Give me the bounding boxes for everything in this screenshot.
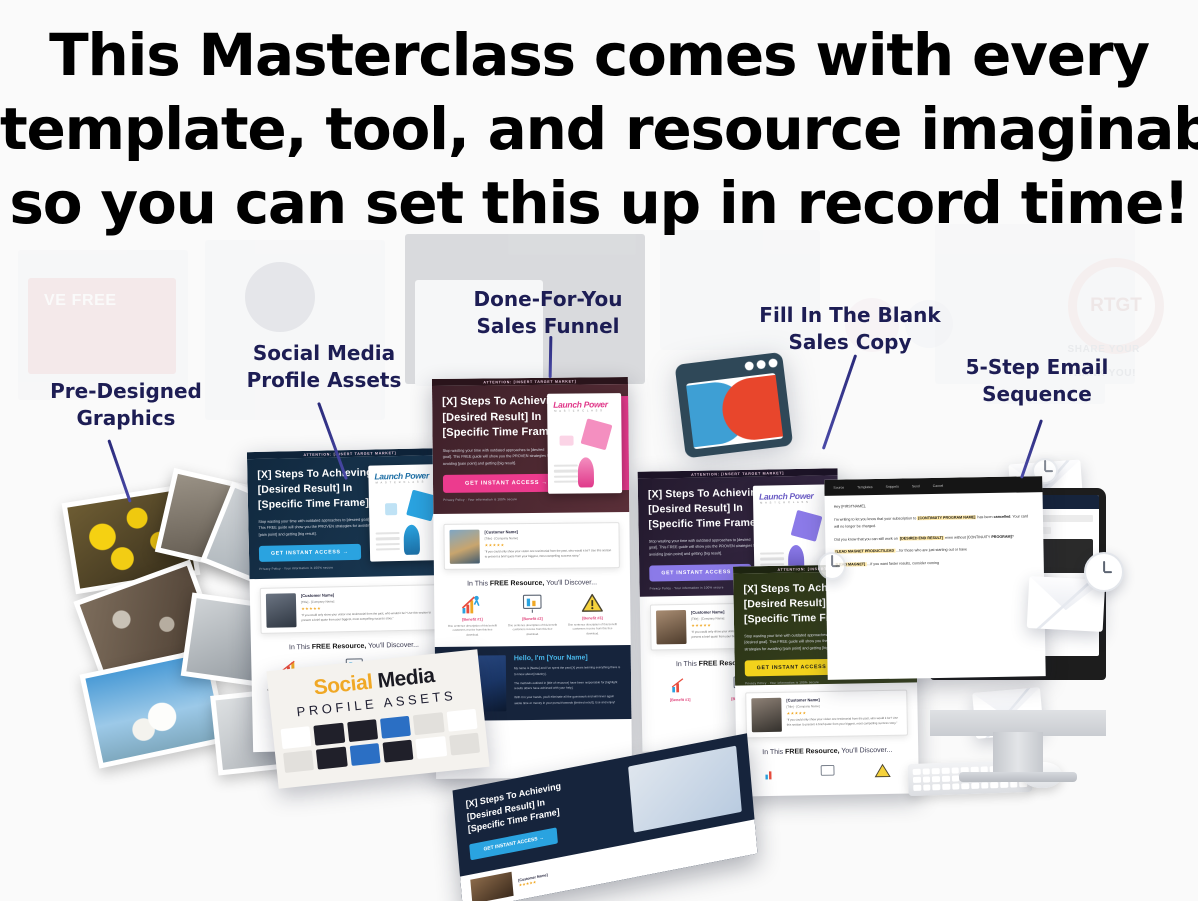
annotation-five-step-email-sequence: 5-Step Email Sequence (952, 354, 1122, 408)
chart-runner-icon (654, 675, 706, 696)
p2-post: even without [CONTINUITY (944, 535, 991, 540)
email-p2: Did you know that you can still work on … (834, 533, 1034, 543)
annotation-line-1: Social Media (253, 341, 395, 365)
benefit-item: [Benefit #1] One sentence description of… (447, 594, 498, 637)
benefit-item: [Benefit #1] (654, 675, 706, 703)
bio-greeting-name: [Your Name] (547, 655, 588, 662)
sm-asset-cell (316, 747, 347, 770)
chart-runner-icon (749, 763, 796, 784)
product-name: Launch Power (547, 393, 621, 410)
funnel-subhead: Stop wasting your time with outdated app… (443, 447, 552, 468)
presentation-icon (804, 762, 851, 783)
discover-pre: In This (762, 749, 785, 756)
discover-post: You'll Discover... (544, 579, 597, 587)
email-greeting: Hey [FIRSTNAME], (834, 500, 1034, 510)
bio-p2: The methods outlined in [title of resour… (514, 680, 622, 692)
sm-asset-cell (314, 723, 345, 746)
testimonial-photo (449, 530, 479, 564)
email-p3: [LEAD MAGNET PRODUCT/LEAD ...for those w… (834, 546, 1034, 556)
warning-icon (567, 593, 618, 614)
email-p4: [LEAD MAGNET] ...if you want faster resu… (835, 558, 1035, 568)
bg-word-give-free: VE FREE (44, 292, 117, 310)
p1-b1: [CONTINUITY PROGRAM NAME] (917, 515, 976, 520)
headline-line-1: This Masterclass comes with every (0, 18, 1198, 92)
product-boxshot: Launch Power M A S T E R C L A S S (547, 393, 622, 494)
hl1: [X] Steps To Achieving (442, 395, 563, 408)
benefit-item: [Benefit #3] One sentence description of… (567, 593, 618, 636)
toolbar-item-snippets[interactable]: Snippets (886, 485, 899, 489)
sm-asset-grid (281, 709, 481, 773)
bio-p3: With it in your hands, you'll eliminate … (514, 694, 622, 706)
benefit-item (860, 761, 907, 782)
benefit-desc: One sentence description of this benefit… (447, 623, 498, 637)
hl3: [Specific Time Frame] (442, 426, 558, 439)
tilted-headline: [X] Steps To Achieving [Desired Result] … (465, 768, 621, 836)
p3-b: [LEAD MAGNET PRODUCT/LEAD (834, 549, 895, 554)
rtgt-logo: RTGT (1068, 258, 1164, 354)
sm-asset-cell (413, 712, 444, 735)
testimonial-role: [Title] - [Company Name] (485, 535, 614, 540)
testimonial-card: [Customer Name] [Title] - [Company Name]… (443, 522, 619, 570)
testimonial-photo (751, 698, 782, 733)
annotation-line-1: Fill In The Blank (759, 303, 940, 327)
discover-bold: FREE Resource, (490, 580, 545, 588)
testimonial-quote: "If you could only show your visitor one… (485, 548, 614, 558)
testimonial-quote: "If you could only show your visitor one… (787, 716, 902, 727)
clock-icon (818, 552, 846, 580)
monitor-foot (959, 772, 1077, 782)
benefit-title: [Benefit #1] (654, 698, 706, 703)
discover-bold: FREE Resource, (785, 748, 840, 756)
monitor-neck (993, 732, 1043, 774)
benefit-desc: One sentence description of this benefit… (507, 623, 558, 637)
annotation-pre-designed-graphics: Pre-Designed Graphics (12, 378, 240, 432)
benefit-desc: One sentence description of this benefit… (567, 622, 618, 636)
sm-asset-cell (416, 736, 447, 759)
discover-pre: In This (467, 580, 490, 587)
bio-p1: My name is [Name] and I've spent the pas… (514, 665, 622, 677)
toolbar-item-send[interactable]: Send (912, 484, 920, 488)
browser-gear-icon (670, 345, 800, 467)
annotation-line-2: Sales Funnel (477, 314, 620, 338)
discover-pre: In This (676, 661, 699, 668)
p1-mid: has been (976, 515, 993, 519)
benefit-item (804, 762, 851, 783)
p1-b2: cancelled (994, 515, 1011, 519)
bio-greeting: Hello, I'm [Your Name] (514, 654, 622, 662)
p4: ...if you want faster results, consider … (867, 561, 939, 566)
testimonial-name: [Customer Name] (484, 528, 613, 534)
toolbar-item-source[interactable]: Source (833, 486, 844, 490)
sm-asset-cell (380, 716, 411, 739)
annotation-social-media-profile-assets: Social Media Profile Assets (218, 340, 430, 394)
sm-asset-cell (449, 733, 480, 756)
rocket-icon (578, 457, 594, 487)
p2-b1: [DESIRED END RESULT] (899, 535, 944, 540)
sm-title-social: Social (313, 670, 374, 699)
page-headline: This Masterclass comes with every templa… (0, 18, 1198, 241)
annotation-fill-in-the-blank-sales-copy: Fill In The Blank Sales Copy (758, 302, 942, 356)
sm-asset-cell (283, 750, 314, 773)
sm-title-media: Media (376, 664, 435, 693)
toolbar-item-templates[interactable]: Templates (857, 485, 873, 489)
annotation-line-1: Pre-Designed (50, 379, 202, 403)
social-media-assets-sheet[interactable]: Social Media PROFILE ASSETS (266, 649, 489, 789)
hl2: [Desired Result] In (442, 411, 541, 424)
bio-greeting-pre: Hello, I'm (514, 655, 547, 662)
warning-icon (860, 761, 907, 782)
email-composer-window[interactable]: Source Templates Snippets Send Cancel He… (824, 476, 1045, 680)
headline-line-2: template, tool, and resource imaginable (0, 92, 1198, 166)
benefits-row: [Benefit #1] One sentence description of… (434, 593, 631, 647)
benefit-title: [Benefit #3] (567, 616, 617, 621)
sm-asset-cell (446, 709, 477, 732)
sm-asset-cell (349, 743, 380, 766)
testimonial-stars: ★★★★★ (485, 541, 614, 547)
privacy-note: Privacy Policy · Your information is 100… (443, 496, 619, 502)
p3: ...for those who are just starting out o… (896, 548, 967, 553)
p2-end: ? (1012, 534, 1014, 538)
p2-pre: Did you know that you can still work on (834, 536, 899, 541)
annotation-line-1: 5-Step Email (966, 355, 1109, 379)
annotation-line-2: Sequence (982, 382, 1092, 406)
email-p1: I'm writing to let you know that your su… (834, 513, 1034, 530)
testimonial-card: [Customer Name] [Title] - [Company Name]… (745, 690, 908, 739)
benefit-title: [Benefit #1] (447, 617, 497, 622)
promo-graphic-stage: This Masterclass comes with every templa… (0, 0, 1198, 901)
discover-heading: In This FREE Resource, You'll Discover..… (434, 568, 630, 595)
annotation-line-1: Done-For-You (474, 287, 623, 311)
discover-heading: In This FREE Resource, You'll Discover..… (736, 735, 918, 763)
presentation-icon (507, 594, 558, 615)
testimonial-role: [Title] - [Company Name] (786, 702, 901, 708)
sm-asset-cell (382, 740, 413, 763)
testimonial-stars: ★★★★★ (787, 708, 902, 715)
toolbar-item-cancel[interactable]: Cancel (933, 484, 944, 488)
benefits-row (736, 760, 918, 793)
sm-asset-cell (281, 726, 312, 749)
p1-pre: I'm writing to let you know that your su… (834, 516, 917, 521)
clock-icon (1084, 552, 1124, 592)
benefit-item (749, 763, 796, 784)
chart-runner-icon (447, 594, 498, 615)
testimonial-photo (470, 872, 513, 901)
benefit-title: [Benefit #2] (507, 617, 557, 622)
annotation-line-2: Graphics (77, 406, 176, 430)
annotation-done-for-you-sales-funnel: Done-For-You Sales Funnel (448, 286, 648, 340)
annotation-line-2: Sales Copy (789, 330, 912, 354)
sm-asset-cell (347, 719, 378, 742)
annotation-line-2: Profile Assets (247, 368, 402, 392)
p2-b2: PROGRAM] (991, 534, 1012, 538)
product-sub: M A S T E R C L A S S (547, 409, 621, 413)
benefit-item: [Benefit #2] One sentence description of… (507, 594, 558, 637)
headline-line-3: so you can set this up in record time! (0, 166, 1198, 240)
tilted-product-image (628, 746, 742, 833)
discover-post: You'll Discover... (839, 747, 892, 755)
email-body: Hey [FIRSTNAME], I'm writing to let you … (825, 492, 1044, 583)
